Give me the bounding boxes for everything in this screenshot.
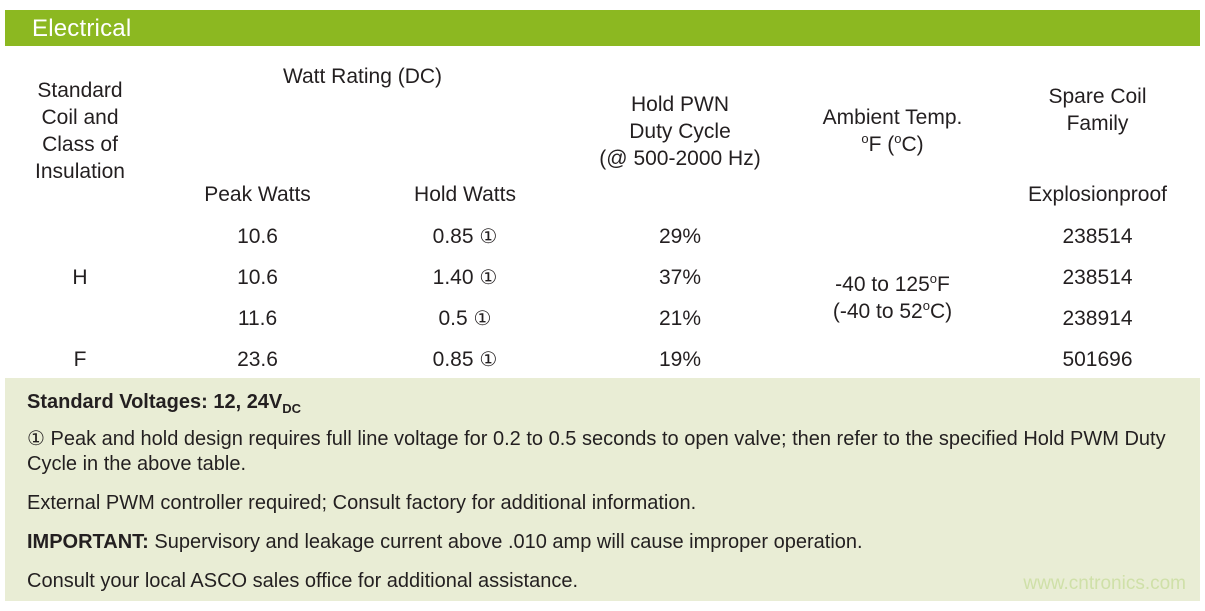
hold-watts-value: 0.5 — [439, 307, 468, 330]
cell-peak-watts: 11.6 — [155, 298, 360, 339]
section-header-bar: Electrical — [5, 10, 1200, 46]
cell-spare-coil: 238914 — [995, 298, 1200, 339]
table-header-row-1: Standard Coil and Class of Insulation Wa… — [5, 46, 1200, 108]
cell-insulation-class-h: H — [5, 216, 155, 339]
site-watermark: www.cntronics.com — [1023, 573, 1186, 595]
degree-symbol: o — [930, 271, 937, 286]
insulation-line-1: Standard — [5, 77, 155, 104]
header-cell-explosionproof: Explosionproof — [995, 174, 1200, 216]
header-spacer-peak — [155, 108, 360, 174]
cell-peak-watts: 10.6 — [155, 216, 360, 257]
hold-pwm-line-2: Duty Cycle — [570, 118, 790, 145]
header-cell-spare-coil-family: Spare Coil Family — [995, 46, 1200, 174]
important-text: Supervisory and leakage current above .0… — [149, 531, 863, 553]
header-cell-watt-rating-group: Watt Rating (DC) — [155, 46, 570, 108]
cell-duty-cycle: 37% — [570, 257, 790, 298]
cell-insulation-class-f: F — [5, 339, 155, 380]
cell-ambient-temp-range: -40 to 125oF (-40 to 52oC) — [790, 216, 995, 380]
header-cell-hold-pwm: Hold PWN Duty Cycle (@ 500-2000 Hz) — [570, 46, 790, 216]
important-label: IMPORTANT: — [27, 531, 149, 553]
cell-hold-watts: 0.85 ① — [360, 339, 570, 380]
hold-watts-value: 0.85 — [433, 225, 474, 248]
cell-peak-watts: 23.6 — [155, 339, 360, 380]
header-cell-hold-watts: Hold Watts — [360, 174, 570, 216]
cell-spare-coil: 501696 — [995, 339, 1200, 380]
spare-coil-line-2: Family — [995, 110, 1200, 137]
table-row: H 10.6 0.85 ① 29% -40 to 125oF (-40 to 5… — [5, 216, 1200, 257]
cell-duty-cycle: 21% — [570, 298, 790, 339]
cell-duty-cycle: 29% — [570, 216, 790, 257]
footnote-marker-icon: ① — [479, 226, 497, 248]
table-row: F 23.6 0.85 ① 19% 501696 — [5, 339, 1200, 380]
cell-hold-watts: 0.85 ① — [360, 216, 570, 257]
cell-hold-watts: 1.40 ① — [360, 257, 570, 298]
note-consult-asco: Consult your local ASCO sales office for… — [27, 569, 1178, 594]
section-title: Electrical — [32, 15, 131, 42]
ambient-temp-value-f: -40 to 125oF — [790, 271, 995, 298]
spec-sheet: Electrical Standard Coil and Class of In… — [0, 0, 1205, 611]
ambient-temp-line-2: oF (oC) — [790, 131, 995, 158]
cell-hold-watts: 0.5 ① — [360, 298, 570, 339]
note-standard-voltages: Standard Voltages: 12, 24VDC — [27, 390, 1178, 415]
degree-symbol-f: o — [861, 131, 868, 146]
standard-voltages-subscript: DC — [282, 401, 301, 416]
header-cell-insulation-class: Standard Coil and Class of Insulation — [5, 46, 155, 216]
note-footnote-1: ① Peak and hold design requires full lin… — [27, 427, 1178, 477]
header-cell-ambient-temp: Ambient Temp. oF (oC) — [790, 46, 995, 216]
cell-duty-cycle: 19% — [570, 339, 790, 380]
degree-symbol-c: o — [894, 131, 901, 146]
hold-watts-value: 0.85 — [433, 348, 474, 371]
insulation-line-3: Class of — [5, 131, 155, 158]
ambient-temp-value-c: (-40 to 52oC) — [790, 298, 995, 325]
hold-watts-value: 1.40 — [433, 266, 474, 289]
hold-pwm-line-3: (@ 500-2000 Hz) — [570, 145, 790, 172]
note-important: IMPORTANT: Supervisory and leakage curre… — [27, 530, 1178, 555]
cell-peak-watts: 10.6 — [155, 257, 360, 298]
footnote-marker-icon: ① — [474, 308, 492, 330]
standard-voltages-label: Standard Voltages: 12, 24V — [27, 391, 282, 413]
table-row: 10.6 1.40 ① 37% 238514 — [5, 257, 1200, 298]
header-cell-peak-watts: Peak Watts — [155, 174, 360, 216]
ambient-temp-line-1: Ambient Temp. — [790, 104, 995, 131]
insulation-line-2: Coil and — [5, 104, 155, 131]
header-spacer-hold — [360, 108, 570, 174]
degree-symbol: o — [923, 298, 930, 313]
hold-pwm-line-1: Hold PWN — [570, 91, 790, 118]
table-row: 11.6 0.5 ① 21% 238914 — [5, 298, 1200, 339]
notes-panel: Standard Voltages: 12, 24VDC ① Peak and … — [5, 378, 1200, 601]
cell-spare-coil: 238514 — [995, 216, 1200, 257]
cell-spare-coil: 238514 — [995, 257, 1200, 298]
electrical-spec-table: Standard Coil and Class of Insulation Wa… — [5, 46, 1200, 380]
note-external-pwm: External PWM controller required; Consul… — [27, 491, 1178, 516]
footnote-marker-icon: ① — [479, 349, 497, 371]
footnote-marker-icon: ① — [479, 267, 497, 289]
insulation-line-4: Insulation — [5, 158, 155, 185]
spare-coil-line-1: Spare Coil — [995, 83, 1200, 110]
